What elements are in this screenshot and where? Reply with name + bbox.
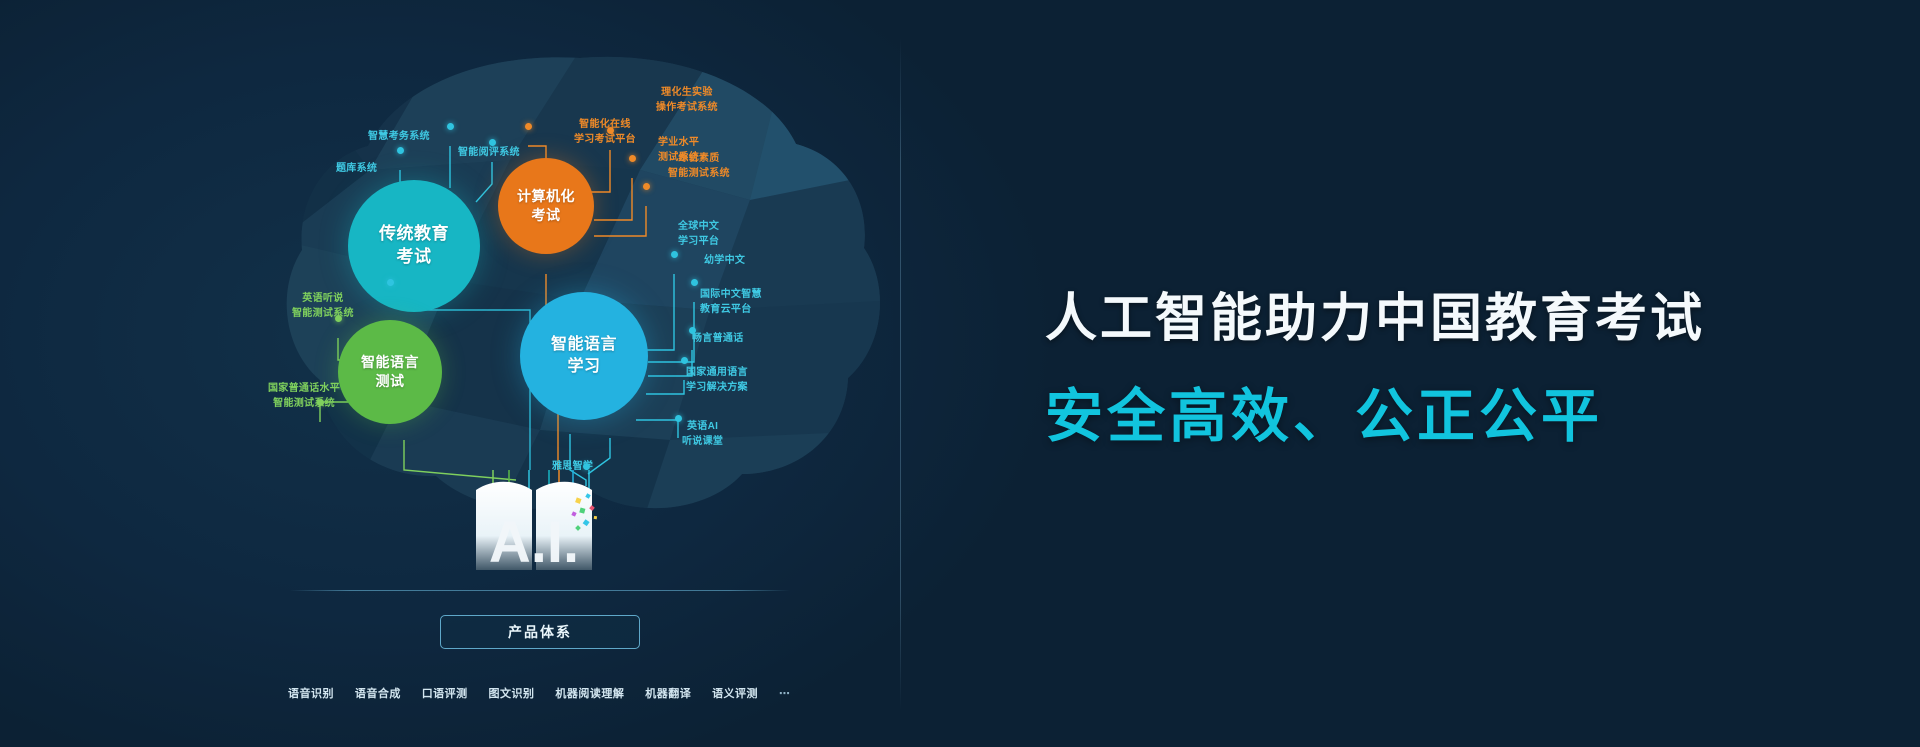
bubble-intelligent-language-test[interactable]: 智能语言 测试 <box>338 320 442 424</box>
connector-dot-icon <box>689 327 696 334</box>
infographic-panel: A.I. 传统教育 考试 <box>280 30 900 720</box>
page-title: 人工智能助力中国教育考试 <box>1045 290 1825 350</box>
connector-dot-icon <box>447 123 454 130</box>
tag-item[interactable]: 语义评测 <box>712 685 758 701</box>
banner-root: A.I. 传统教育 考试 <box>0 0 1920 747</box>
bubble-intelligent-language-learning[interactable]: 智能语言 学习 <box>520 292 648 420</box>
label-online-learning-exam-platform: 智能化在线 学习考试平台 <box>574 118 636 147</box>
label-comprehensive-quality: 综合素质 智能测试系统 <box>668 152 730 181</box>
tag-item[interactable]: 语音识别 <box>288 685 334 701</box>
connector-dot-icon <box>387 279 394 286</box>
connector-dot-icon <box>643 183 650 190</box>
product-system-button[interactable]: 产品体系 <box>440 615 640 649</box>
connector-dot-icon <box>525 123 532 130</box>
label-english-listening-speaking: 英语听说 智能测试系统 <box>292 292 354 321</box>
label-english-ai-class: 英语AI 听说课堂 <box>682 420 723 449</box>
label-national-language-solution: 国家通用语言 学习解决方案 <box>686 366 748 395</box>
bubble-label: 计算机化 考试 <box>517 187 575 225</box>
tag-item-more[interactable]: ⋯ <box>779 687 792 700</box>
label-global-chinese: 全球中文 学习平台 <box>678 220 719 249</box>
tag-item[interactable]: 机器翻译 <box>645 685 691 701</box>
tag-item[interactable]: 机器阅读理解 <box>555 685 624 701</box>
bubble-label: 智能语言 学习 <box>551 334 617 377</box>
connector-dot-icon <box>489 139 496 146</box>
label-question-bank: 题库系统 <box>336 162 377 177</box>
connector-dot-icon <box>675 415 682 422</box>
connector-dot-icon <box>607 127 614 134</box>
connector-dot-icon <box>691 279 698 286</box>
ai-trunk-text: A.I. <box>489 510 579 570</box>
label-lab-operation-exam: 理化生实验 操作考试系统 <box>656 86 718 115</box>
connector-dot-icon <box>629 155 636 162</box>
tag-item[interactable]: 图文识别 <box>489 685 535 701</box>
label-putonghua-level: 国家普通话水平 智能测试系统 <box>268 382 340 411</box>
label-youxue-chinese: 幼学中文 <box>704 254 745 269</box>
connector-dot-icon <box>583 463 590 470</box>
label-intl-chinese-cloud: 国际中文智慧 教育云平台 <box>700 288 762 317</box>
connector-dot-icon <box>317 399 324 406</box>
label-changyan-putonghua: 畅言普通话 <box>692 332 744 347</box>
bubble-label: 传统教育 考试 <box>379 223 449 269</box>
tech-tag-list: 语音识别 语音合成 口语评测 图文识别 机器阅读理解 机器翻译 语义评测 ⋯ <box>280 685 800 701</box>
bubble-computerized-exam[interactable]: 计算机化 考试 <box>498 158 594 254</box>
bubble-label: 智能语言 测试 <box>361 353 419 391</box>
connector-dot-icon <box>397 147 404 154</box>
connector-dot-icon <box>671 251 678 258</box>
headline-block: 人工智能助力中国教育考试 安全高效、公正公平 <box>1045 290 1825 450</box>
page-subtitle: 安全高效、公正公平 <box>1045 384 1825 451</box>
tag-item[interactable]: 语音合成 <box>355 685 401 701</box>
tag-item[interactable]: 口语评测 <box>422 685 468 701</box>
connector-dot-icon <box>681 357 688 364</box>
connector-dot-icon <box>335 315 342 322</box>
label-smart-marking: 智能阅评系统 <box>458 146 520 161</box>
label-smart-exam-affairs: 智慧考务系统 <box>368 130 430 145</box>
bubble-traditional-education-exam[interactable]: 传统教育 考试 <box>348 180 480 312</box>
horizontal-rule <box>290 590 790 591</box>
vertical-divider <box>900 38 901 710</box>
